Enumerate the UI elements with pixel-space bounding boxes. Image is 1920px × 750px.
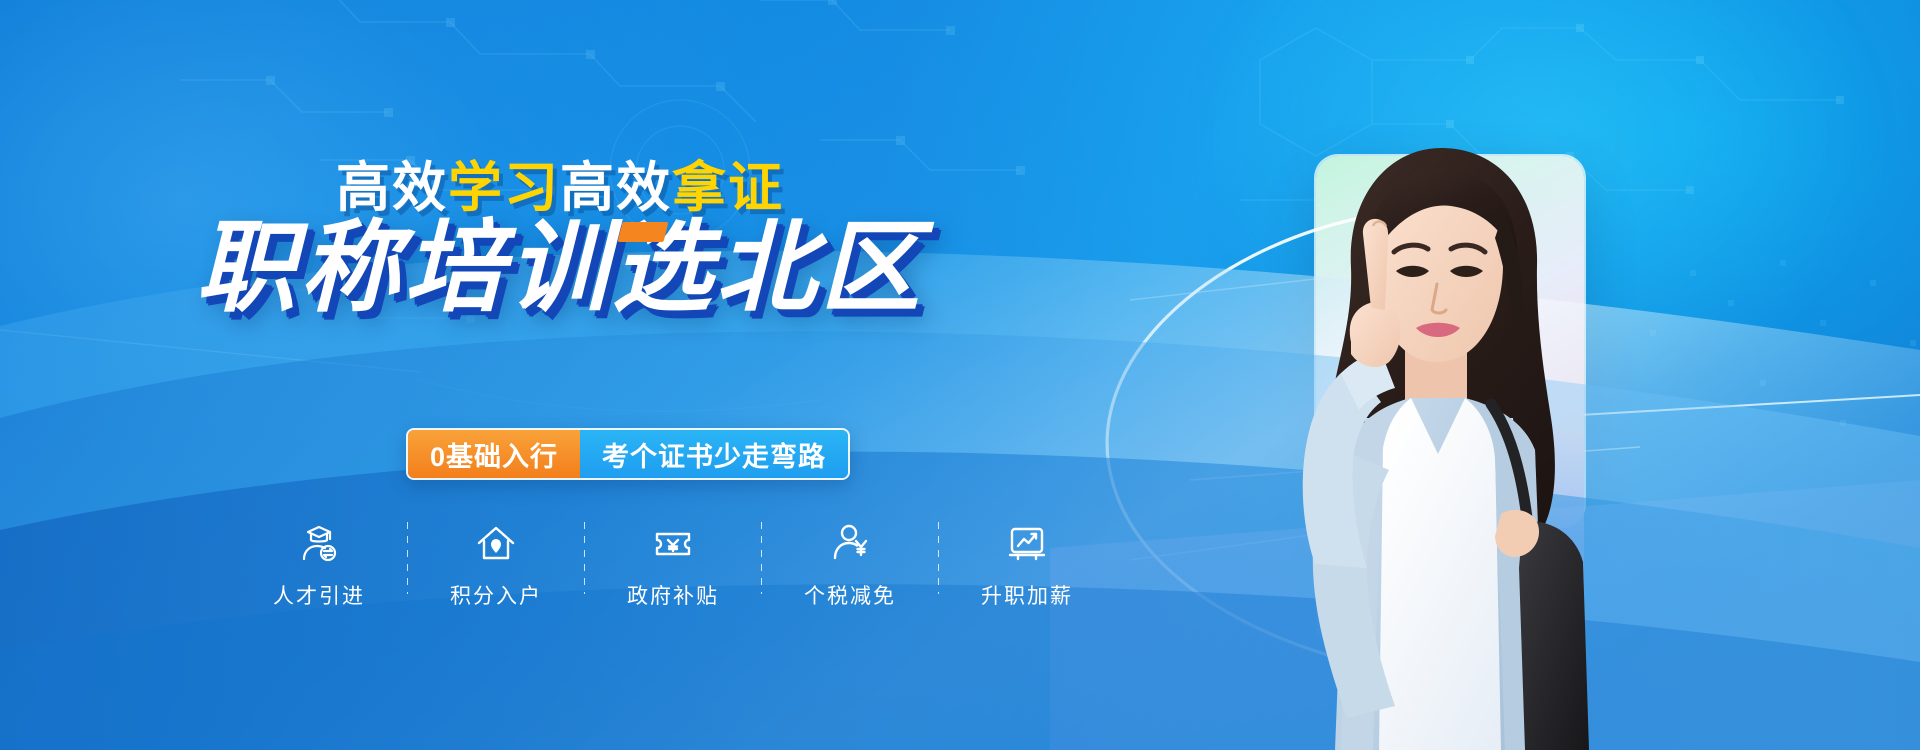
feature-item-talent-intro[interactable]: 人才引进 — [252, 520, 386, 610]
badge-left-label: 0基础入行 — [408, 430, 580, 478]
subheadline-seg-1: 高效 — [336, 158, 448, 218]
feature-item-promotion-raise[interactable]: 升职加薪 — [960, 520, 1094, 610]
feature-label: 积分入户 — [450, 580, 542, 610]
graduate-person-icon — [297, 520, 341, 566]
feature-divider — [584, 522, 585, 594]
feature-list: 人才引进 积分入户 — [252, 520, 1094, 610]
feature-item-tax-reduction[interactable]: 个税减免 — [783, 520, 917, 610]
subheadline-seg-4: 拿证 — [672, 158, 784, 218]
subheadline-seg-2: 学习 — [448, 158, 560, 218]
feature-label: 人才引进 — [273, 580, 365, 610]
feature-divider — [407, 522, 408, 594]
feature-label: 升职加薪 — [981, 580, 1073, 610]
chart-monitor-icon — [1005, 520, 1049, 566]
tagline-badge[interactable]: 0基础入行 考个证书少走弯路 — [406, 428, 850, 480]
headline-part-a: 职称培训 — [196, 212, 612, 324]
orange-accent-chip-icon — [618, 222, 669, 242]
feature-divider — [761, 522, 762, 594]
woman-pointing-up-photo — [1255, 118, 1615, 750]
badge-right-label: 考个证书少走弯路 — [580, 430, 848, 478]
feature-label: 个税减免 — [804, 580, 896, 610]
copy-block: 高效学习高效拿证 职称培训选北区 0基础入行 考个证书少走弯路 — [0, 0, 1120, 750]
subheadline-seg-3: 高效 — [560, 158, 672, 218]
headline-accent-wrap: 选北区 — [612, 218, 924, 318]
promo-banner: 高效学习高效拿证 职称培训选北区 0基础入行 考个证书少走弯路 — [0, 0, 1920, 750]
subheadline: 高效学习高效拿证 — [0, 160, 1120, 217]
ticket-yuan-icon — [651, 520, 695, 566]
person-yuan-icon — [828, 520, 872, 566]
feature-item-government-subsidy[interactable]: 政府补贴 — [606, 520, 740, 610]
house-location-icon — [474, 520, 518, 566]
feature-label: 政府补贴 — [627, 580, 719, 610]
feature-divider — [938, 522, 939, 594]
feature-item-points-residency[interactable]: 积分入户 — [429, 520, 563, 610]
page-title: 职称培训选北区 — [0, 218, 1120, 318]
